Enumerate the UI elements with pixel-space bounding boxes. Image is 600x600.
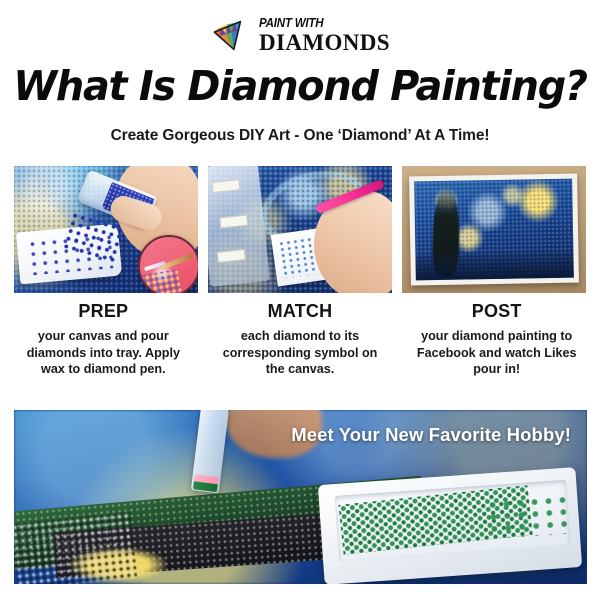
step-caption-row: PREP your canvas and pour diamonds into …: [8, 301, 592, 378]
step-prep-title: PREP: [8, 301, 199, 322]
step-post-body: your diamond painting to Facebook and wa…: [401, 328, 592, 378]
prep-inset-canvas: [138, 269, 182, 293]
step-post-title: POST: [401, 301, 592, 322]
banner-headline: Meet Your New Favorite Hobby!: [291, 424, 571, 446]
brand-logo[interactable]: PAINT WITH DIAMONDS: [0, 12, 600, 60]
banner-tray-basin: [335, 480, 571, 562]
post-starry-night-art: [414, 179, 574, 281]
page-title: What Is Diamond Painting?: [9, 62, 591, 110]
step-photo-row: [14, 166, 587, 293]
banner-white-tray: [318, 467, 582, 584]
match-baggie-label: [219, 215, 248, 229]
step-match-body: each diamond to its corresponding symbol…: [205, 328, 396, 378]
page-subtitle: Create Gorgeous DIY Art - One ‘Diamond’ …: [0, 127, 600, 145]
step-prep: PREP your canvas and pour diamonds into …: [8, 301, 199, 378]
brand-line-2: DIAMONDS: [259, 31, 390, 55]
diamond-gem-icon: [210, 17, 250, 55]
step-photo-match: [208, 166, 392, 293]
step-post: POST your diamond painting to Facebook a…: [401, 301, 592, 378]
infographic-page: PAINT WITH DIAMONDS What Is Diamond Pain…: [0, 0, 600, 600]
step-photo-post: [402, 166, 586, 293]
prep-magnifier-inset: [138, 235, 198, 293]
brand-line-1: PAINT WITH: [259, 17, 323, 30]
banner-green-diamonds-scattered: [485, 493, 570, 539]
post-village: [415, 252, 573, 281]
step-photo-prep: [14, 166, 198, 293]
post-finished-canvas: [409, 174, 579, 286]
match-baggie-label: [211, 179, 240, 193]
banner-left-canvas-beads: [14, 512, 137, 584]
match-baggie-label: [217, 249, 246, 263]
step-match-title: MATCH: [205, 301, 396, 322]
brand-wordmark: PAINT WITH DIAMONDS: [259, 17, 390, 56]
step-prep-body: your canvas and pour diamonds into tray.…: [8, 328, 199, 378]
hobby-banner: Meet Your New Favorite Hobby!: [14, 410, 587, 584]
banner-pen-green-diamond: [193, 481, 218, 492]
step-match: MATCH each diamond to its corresponding …: [205, 301, 396, 378]
